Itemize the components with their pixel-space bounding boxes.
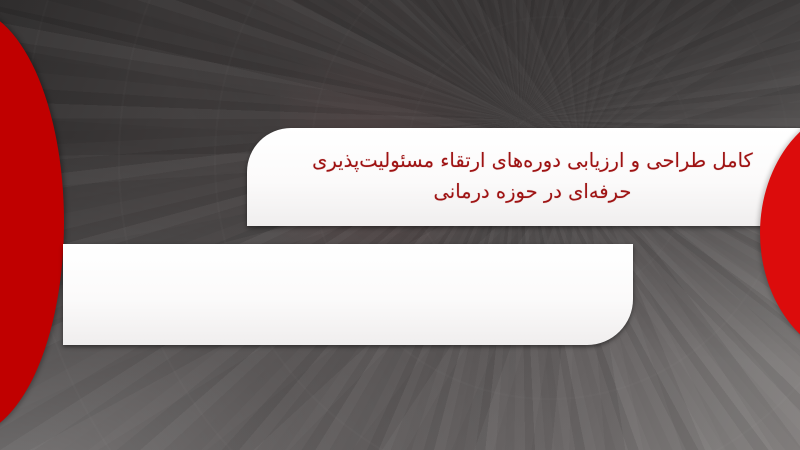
title-plaque[interactable]: کامل طراحی و ارزیابی دوره‌های ارتقاء مسئ…: [247, 128, 800, 226]
presentation-slide: کامل طراحی و ارزیابی دوره‌های ارتقاء مسئ…: [0, 0, 800, 450]
subtitle-placeholder-plaque[interactable]: [63, 244, 633, 345]
slide-title: کامل طراحی و ارزیابی دوره‌های ارتقاء مسئ…: [247, 146, 800, 208]
subtitle-text: [63, 244, 633, 269]
